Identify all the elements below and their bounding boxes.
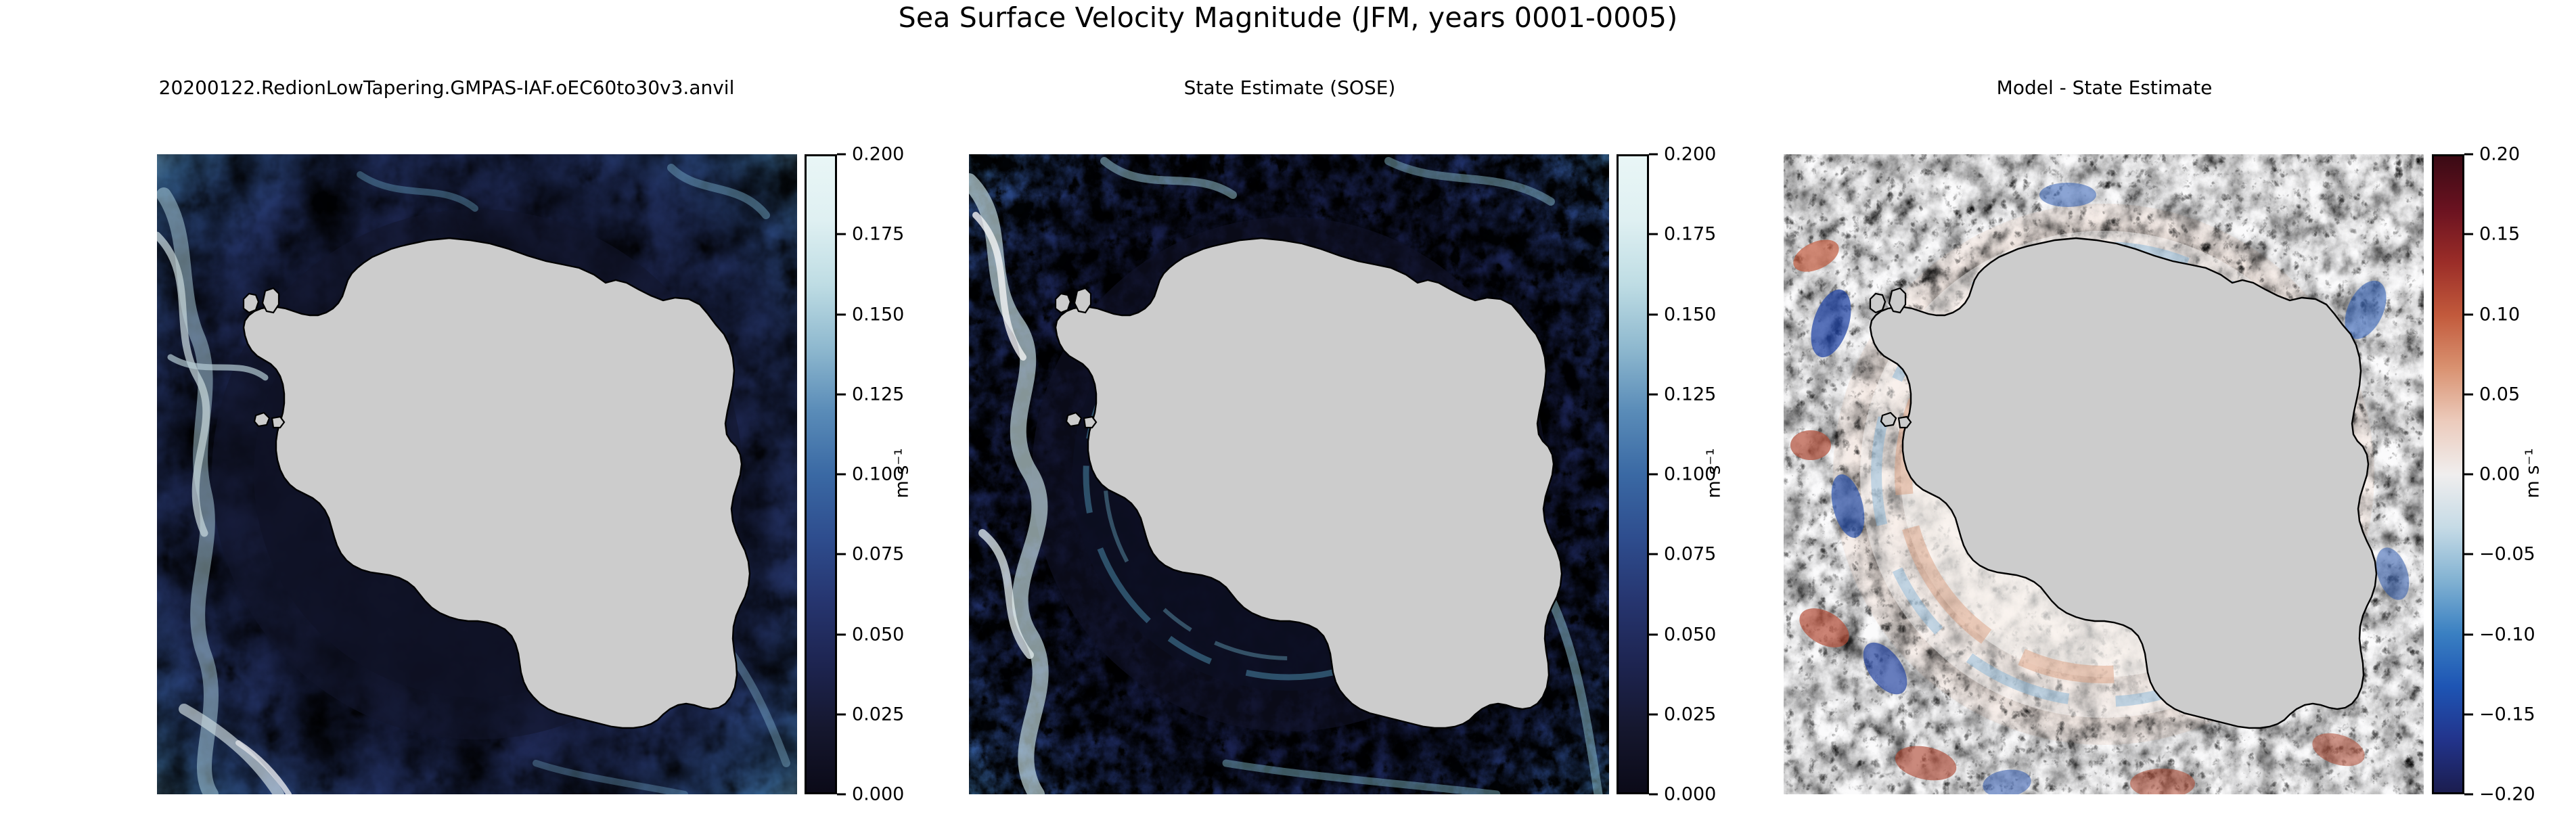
- colorbar-tick-mark: [1649, 154, 1658, 156]
- colorbar-tick-mark: [837, 154, 846, 156]
- map-axes-difference[interactable]: [1784, 154, 2424, 794]
- colorbar-tick-label: 0.20: [2479, 145, 2520, 164]
- colorbar-tick: 0.075: [837, 545, 904, 564]
- colorbar-tick: 0.00: [2464, 465, 2520, 484]
- colorbar-tick-mark: [2464, 633, 2473, 635]
- colorbar-tick-label: 0.125: [852, 385, 904, 403]
- colorbar-tick: 0.20: [2464, 145, 2520, 164]
- colorbar-tick: 0.075: [1649, 545, 1716, 564]
- colorbar-tick: 0.200: [837, 145, 904, 164]
- map-axes-sose[interactable]: [969, 154, 1609, 794]
- colorbar-tick-mark: [1649, 313, 1658, 315]
- colorbar-tick: 0.175: [1649, 225, 1716, 244]
- colorbar-tick: 0.175: [837, 225, 904, 244]
- colorbar-tick: 0.050: [837, 625, 904, 643]
- colorbar-tick-mark: [2464, 154, 2473, 156]
- colorbar-tick-label: 0.075: [852, 545, 904, 564]
- colorbar-tick-label: 0.10: [2479, 305, 2520, 323]
- colorbar-tick: 0.050: [1649, 625, 1716, 643]
- colorbar-tick-mark: [1649, 794, 1658, 796]
- colorbar-tick-mark: [2464, 553, 2473, 555]
- colorbar-tick: 0.000: [837, 785, 904, 804]
- colorbar-tick-mark: [2464, 233, 2473, 235]
- colorbar-tick: −0.15: [2464, 705, 2535, 723]
- figure-canvas: Sea Surface Velocity Magnitude (JFM, yea…: [0, 0, 2576, 820]
- panel-title-difference: Model - State Estimate: [1698, 78, 2510, 97]
- colorbar-difference: [2432, 154, 2464, 794]
- colorbar-tick: 0.05: [2464, 385, 2520, 403]
- colorbar-model: [805, 154, 837, 794]
- colorbar-tick-label: 0.150: [852, 305, 904, 323]
- figure-suptitle: Sea Surface Velocity Magnitude (JFM, yea…: [0, 4, 2576, 32]
- colorbar-unit-model: m s⁻¹: [893, 448, 911, 498]
- colorbar-tick-mark: [1649, 233, 1658, 235]
- colorbar-tick-label: 0.05: [2479, 385, 2520, 403]
- colorbar-sose: [1617, 154, 1649, 794]
- colorbar-tick-mark: [1649, 553, 1658, 555]
- colorbar-tick-label: 0.025: [852, 705, 904, 723]
- colorbar-tick: 0.025: [837, 705, 904, 723]
- colorbar-tick-mark: [1649, 474, 1658, 476]
- colorbar-tick-label: 0.000: [852, 785, 904, 804]
- panel-title-sose: State Estimate (SOSE): [884, 78, 1696, 97]
- colorbar-tick-label: −0.15: [2479, 705, 2535, 723]
- colorbar-tick-label: 0.150: [1664, 305, 1716, 323]
- colorbar-tick-mark: [837, 553, 846, 555]
- colorbar-tick-label: 0.075: [1664, 545, 1716, 564]
- colorbar-tick: 0.125: [1649, 385, 1716, 403]
- colorbar-tick-mark: [2464, 474, 2473, 476]
- panel-title-model: 20200122.RedionLowTapering.GMPAS-IAF.oEC…: [0, 78, 954, 97]
- colorbar-gradient-sose: [1619, 156, 1647, 792]
- colorbar-tick: 0.125: [837, 385, 904, 403]
- colorbar-tick-mark: [837, 633, 846, 635]
- colorbar-tick-mark: [837, 794, 846, 796]
- colorbar-unit-sose: m s⁻¹: [1705, 448, 1723, 498]
- colorbar-tick-mark: [1649, 393, 1658, 395]
- colorbar-tick-mark: [837, 393, 846, 395]
- colorbar-tick-label: 0.15: [2479, 225, 2520, 244]
- colorbar-tick-label: 0.00: [2479, 465, 2520, 484]
- colorbar-tick-mark: [1649, 633, 1658, 635]
- colorbar-tick-label: 0.050: [1664, 625, 1716, 643]
- colorbar-tick-label: 0.000: [1664, 785, 1716, 804]
- colorbar-tick-mark: [837, 233, 846, 235]
- colorbar-tick: 0.15: [2464, 225, 2520, 244]
- colorbar-tick-label: −0.20: [2479, 785, 2535, 804]
- colorbar-tick: 0.000: [1649, 785, 1716, 804]
- colorbar-tick-label: 0.125: [1664, 385, 1716, 403]
- colorbar-tick: 0.200: [1649, 145, 1716, 164]
- colorbar-tick-mark: [2464, 794, 2473, 796]
- colorbar-tick-label: 0.050: [852, 625, 904, 643]
- colorbar-tick-label: 0.025: [1664, 705, 1716, 723]
- colorbar-tick-mark: [837, 474, 846, 476]
- colorbar-tick-mark: [2464, 713, 2473, 715]
- colorbar-tick: 0.025: [1649, 705, 1716, 723]
- colorbar-tick-label: 0.175: [1664, 225, 1716, 244]
- colorbar-tick-label: 0.200: [1664, 145, 1716, 164]
- colorbar-tick: −0.05: [2464, 545, 2535, 564]
- colorbar-tick-label: 0.175: [852, 225, 904, 244]
- colorbar-tick-mark: [837, 713, 846, 715]
- colorbar-tick: 0.150: [837, 305, 904, 323]
- colorbar-unit-difference: m s⁻¹: [2524, 448, 2542, 498]
- colorbar-tick-label: 0.200: [852, 145, 904, 164]
- colorbar-tick-mark: [2464, 313, 2473, 315]
- colorbar-tick: 0.10: [2464, 305, 2520, 323]
- colorbar-tick-label: −0.10: [2479, 625, 2535, 643]
- colorbar-gradient-model: [807, 156, 835, 792]
- colorbar-tick: −0.20: [2464, 785, 2535, 804]
- colorbar-tick-mark: [1649, 713, 1658, 715]
- colorbar-tick: 0.150: [1649, 305, 1716, 323]
- colorbar-gradient-difference: [2434, 156, 2462, 792]
- colorbar-tick-mark: [837, 313, 846, 315]
- colorbar-tick-mark: [2464, 393, 2473, 395]
- colorbar-tick: −0.10: [2464, 625, 2535, 643]
- colorbar-tick-label: −0.05: [2479, 545, 2535, 564]
- map-axes-model[interactable]: [157, 154, 797, 794]
